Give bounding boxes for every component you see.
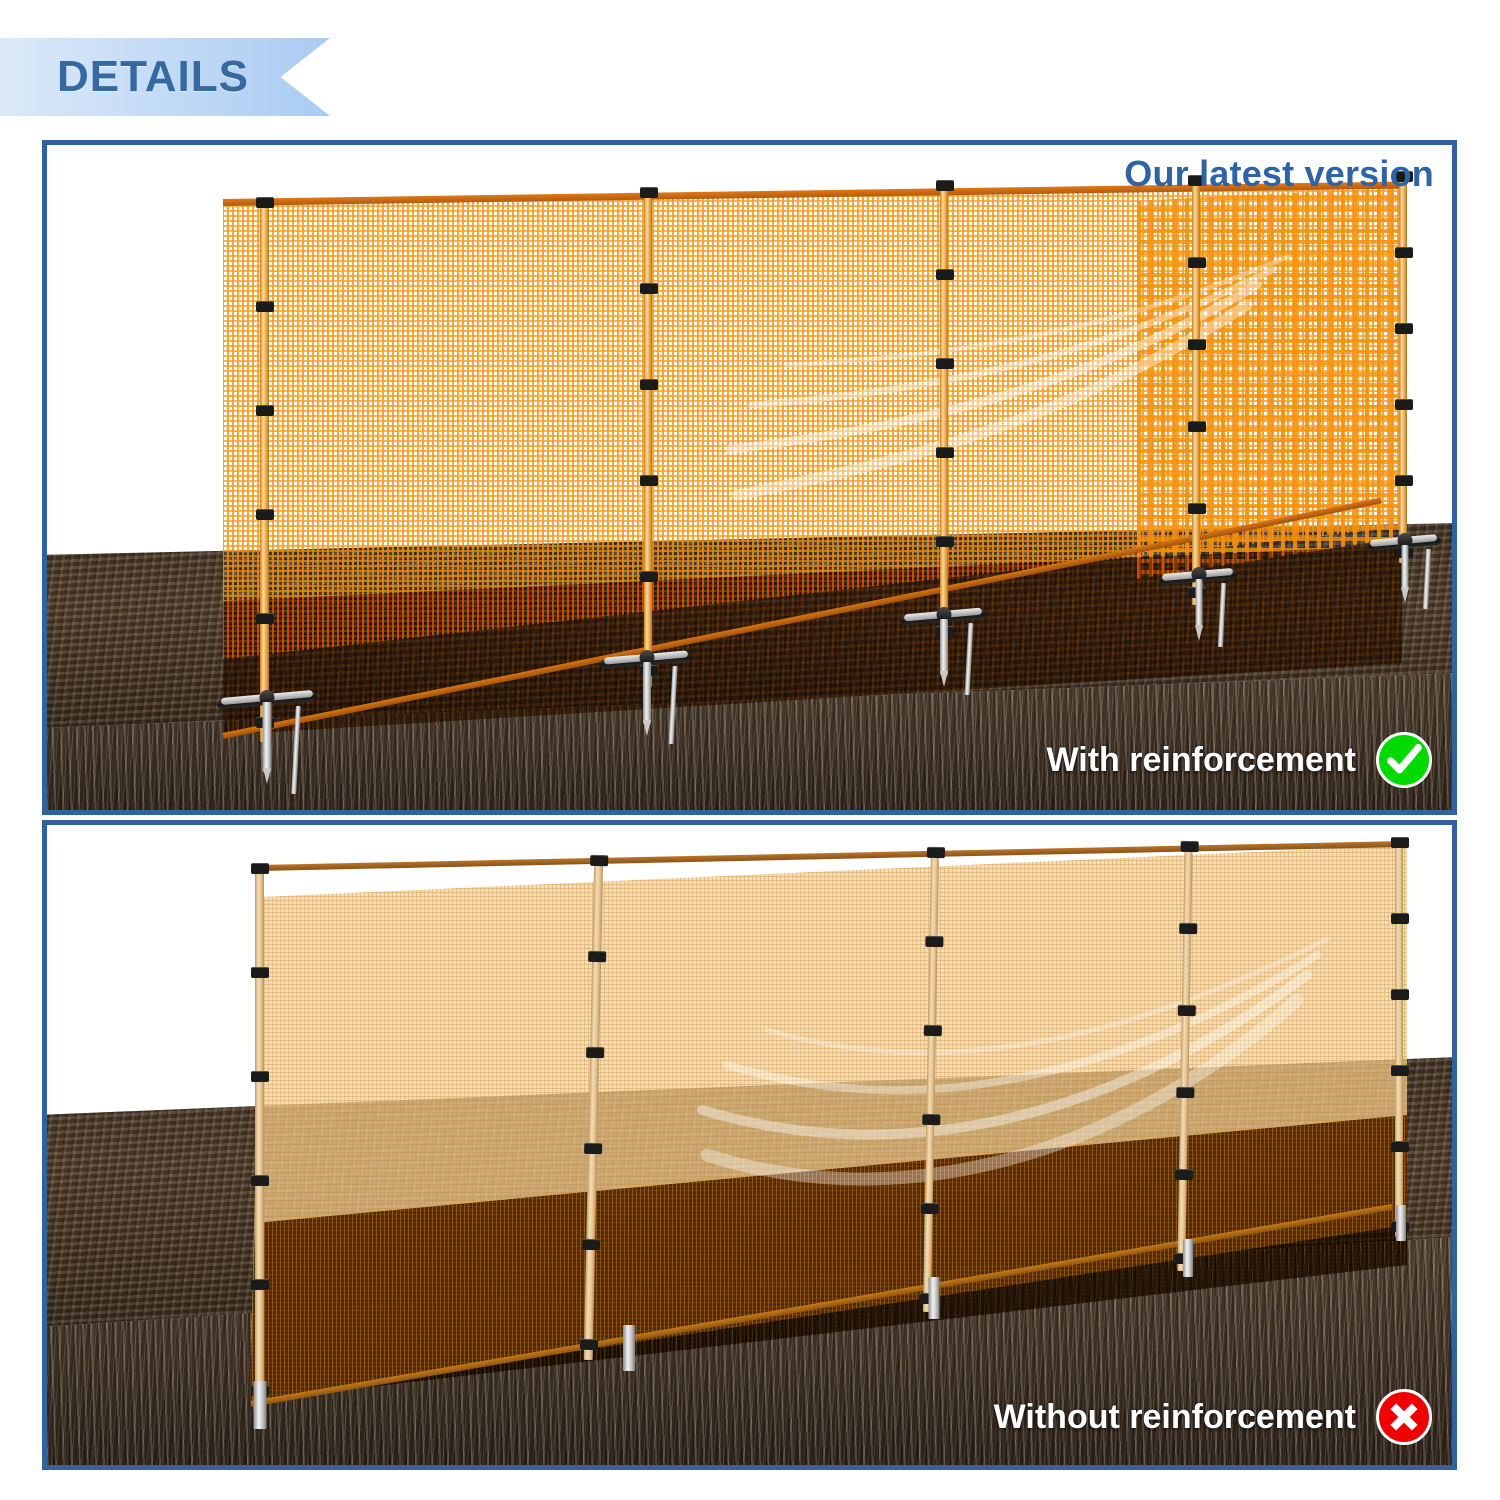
- fence-post-5: [1399, 171, 1407, 563]
- post-clip: [925, 936, 943, 947]
- x-circle-icon: [1376, 1389, 1432, 1445]
- post-clip: [588, 951, 606, 962]
- ground-pin-3: [927, 1277, 941, 1329]
- fence-post-2: [644, 187, 652, 687]
- post-clip: [1395, 323, 1413, 334]
- post-clip: [251, 1071, 269, 1082]
- badge-without-reinforcement: Without reinforcement: [994, 1389, 1432, 1445]
- ground-anchor-4: [1151, 567, 1247, 667]
- post-clip: [251, 1279, 269, 1290]
- fence-post-3: [940, 180, 948, 645]
- fence-post-1: [255, 863, 264, 1408]
- post-clip: [256, 405, 274, 416]
- post-clip: [922, 1114, 940, 1125]
- post-clip: [640, 379, 658, 390]
- post-clip: [936, 269, 954, 280]
- post-clip: [582, 1239, 600, 1250]
- ground-pin-2: [621, 1325, 636, 1381]
- post-clip: [1395, 475, 1413, 486]
- post-clip: [1391, 1065, 1409, 1076]
- post-clip: [1391, 989, 1409, 1000]
- fence-post-1: [260, 197, 269, 742]
- ground-anchor-5: [1359, 533, 1451, 629]
- post-clip: [1178, 1005, 1196, 1016]
- post-clip: [921, 1203, 939, 1214]
- post-clip: [1175, 1169, 1193, 1180]
- post-clip: [580, 1339, 598, 1350]
- post-clip: [256, 197, 274, 208]
- post-clip: [1391, 913, 1409, 924]
- post-clip: [640, 187, 658, 198]
- post-clip: [1395, 247, 1413, 258]
- post-clip: [251, 967, 269, 978]
- post-clip: [1188, 257, 1206, 268]
- ground-anchor-1: [207, 690, 327, 810]
- post-clip: [584, 1143, 602, 1154]
- ground-anchor-3: [892, 607, 996, 719]
- post-clip: [1395, 399, 1413, 410]
- post-clip: [640, 571, 658, 582]
- post-clip: [640, 283, 658, 294]
- panel-title-latest-version: Our latest version: [1124, 153, 1434, 195]
- post-clip: [251, 863, 269, 874]
- post-clip: [936, 180, 954, 191]
- fence-post-4: [1192, 175, 1200, 605]
- ground-anchor-2: [592, 650, 702, 770]
- post-clip: [1391, 1141, 1409, 1152]
- product-detail-page: DETAILS: [0, 0, 1500, 1500]
- post-clip: [936, 536, 954, 547]
- post-clip: [1391, 837, 1409, 848]
- post-clip: [924, 1025, 942, 1036]
- post-clip: [936, 447, 954, 458]
- post-clip: [251, 1175, 269, 1186]
- post-clip: [256, 301, 274, 312]
- post-clip: [590, 855, 608, 866]
- post-clip: [1188, 339, 1206, 350]
- panel-without-reinforcement: Without reinforcement: [42, 820, 1457, 1470]
- post-clip: [640, 475, 658, 486]
- post-clip: [936, 358, 954, 369]
- badge-label: With reinforcement: [1046, 741, 1356, 780]
- post-clip: [927, 847, 945, 858]
- post-clip: [1176, 1087, 1194, 1098]
- ground-pin-1: [252, 1381, 268, 1441]
- details-ribbon: DETAILS: [0, 38, 330, 116]
- badge-with-reinforcement: With reinforcement: [1046, 732, 1432, 788]
- badge-label: Without reinforcement: [994, 1398, 1356, 1437]
- fence-post-5: [1395, 837, 1403, 1237]
- post-clip: [1188, 503, 1206, 514]
- ground-pin-5: [1395, 1205, 1407, 1249]
- post-clip: [256, 613, 274, 624]
- post-clip: [586, 1047, 604, 1058]
- post-clip: [1179, 923, 1197, 934]
- ground-pin-4: [1181, 1239, 1194, 1287]
- panel-with-reinforcement: Our latest version With reinforcement: [42, 140, 1457, 815]
- post-clip: [1181, 841, 1199, 852]
- post-clip: [1188, 421, 1206, 432]
- ribbon-label: DETAILS: [57, 55, 249, 99]
- post-clip: [256, 509, 274, 520]
- check-circle-icon: [1376, 732, 1432, 788]
